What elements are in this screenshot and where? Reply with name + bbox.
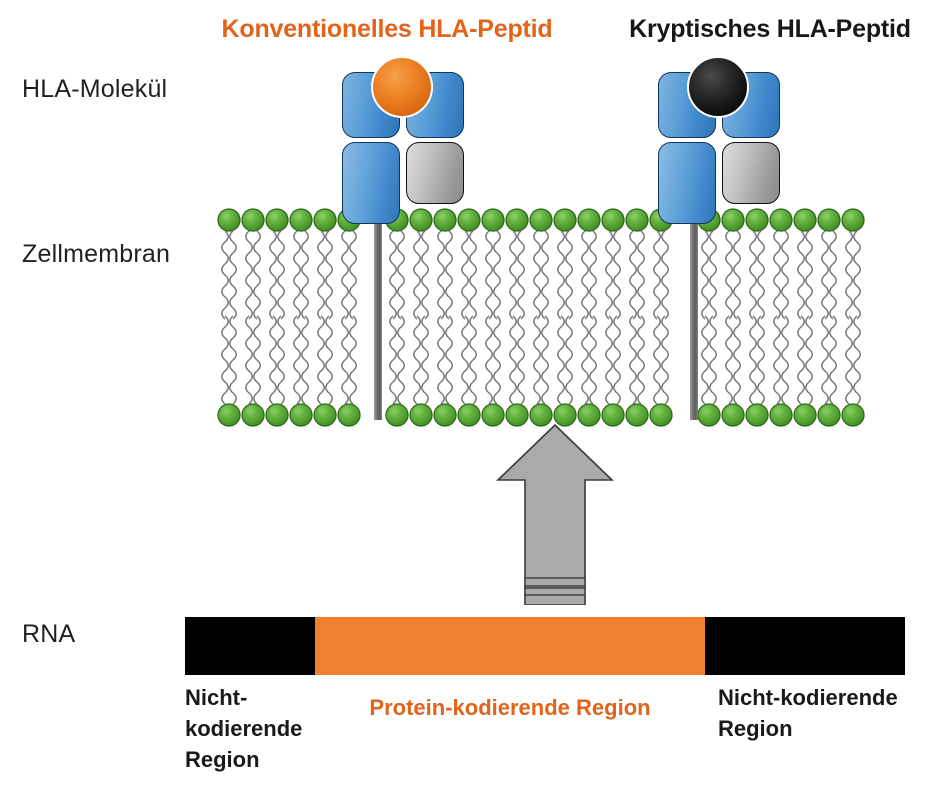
caption-line: Nicht- — [185, 682, 335, 713]
lipid-tail — [494, 316, 500, 404]
lipid-tail — [470, 231, 476, 319]
lipid-tail — [558, 231, 564, 319]
lipid-tail — [638, 231, 644, 319]
lipid-tail — [422, 316, 428, 404]
lipid-tail — [350, 316, 356, 404]
lipid-tail — [630, 231, 636, 319]
lipid-tail — [438, 316, 444, 404]
lipid-tail — [590, 316, 596, 404]
lipid-tail — [414, 231, 420, 319]
lipid-tail — [846, 316, 852, 404]
lipid-tail — [390, 316, 396, 404]
lipid-tail — [534, 316, 540, 404]
lipid-head — [482, 209, 504, 231]
lipid-tail — [798, 231, 804, 319]
lipid-tail — [542, 316, 548, 404]
lipid-head — [842, 209, 864, 231]
lipid-head — [698, 404, 720, 426]
lipid-tail — [534, 231, 540, 319]
translation-arrow — [470, 415, 645, 605]
lipid-head — [314, 209, 336, 231]
lipid-head — [218, 209, 240, 231]
lipid-tail — [302, 231, 308, 319]
lipid-tail — [294, 316, 300, 404]
lipid-tail — [230, 231, 236, 319]
lipid-head — [530, 209, 552, 231]
lipid-tail — [326, 231, 332, 319]
lipid-tail — [566, 316, 572, 404]
lipid-tail — [446, 231, 452, 319]
lipid-head — [650, 404, 672, 426]
rna-caption-right-noncoding: Nicht-kodierende Region — [718, 682, 933, 744]
lipid-tail — [798, 316, 804, 404]
lipid-tail — [806, 231, 812, 319]
lipid-tail — [822, 231, 828, 319]
lipid-tail — [774, 231, 780, 319]
caption-line: Protein-kodierende Region — [315, 692, 705, 723]
lipid-tail — [830, 316, 836, 404]
lipid-tail — [606, 231, 612, 319]
lipid-tail — [606, 316, 612, 404]
lipid-tail — [558, 316, 564, 404]
lipid-head — [410, 404, 432, 426]
lipid-head — [746, 404, 768, 426]
lipid-tail — [726, 316, 732, 404]
lipid-tail — [614, 231, 620, 319]
lipid-tail — [510, 316, 516, 404]
lipid-tail — [662, 231, 668, 319]
lipid-tail — [854, 231, 860, 319]
lipid-tail — [390, 231, 396, 319]
lipid-tail — [614, 316, 620, 404]
lipid-tail — [734, 316, 740, 404]
lipid-tail — [582, 231, 588, 319]
lipid-tail — [542, 231, 548, 319]
lipid-tail — [398, 231, 404, 319]
lipid-tail — [806, 316, 812, 404]
lipid-tail — [350, 231, 356, 319]
lipid-tail — [846, 231, 852, 319]
lipid-tail — [654, 316, 660, 404]
lipid-tail — [414, 316, 420, 404]
lipid-tail — [734, 231, 740, 319]
lipid-tail — [630, 316, 636, 404]
lipid-head — [242, 209, 264, 231]
lipid-head — [602, 209, 624, 231]
hla-anchor-stem-cryptic — [690, 200, 698, 420]
hla-molecule-cryptic[interactable] — [656, 56, 792, 226]
lipid-head — [290, 404, 312, 426]
lipid-tail — [654, 231, 660, 319]
lipid-tail — [222, 231, 228, 319]
lipid-head — [218, 404, 240, 426]
lipid-tail — [702, 316, 708, 404]
diagram-canvas: Konventionelles HLA-Peptid Kryptisches H… — [0, 0, 935, 786]
caption-line: Nicht-kodierende — [718, 682, 933, 713]
lipid-tail — [758, 316, 764, 404]
lipid-tail — [702, 231, 708, 319]
lipid-tail — [246, 231, 252, 319]
lipid-tail — [822, 316, 828, 404]
lipid-head — [266, 209, 288, 231]
lipid-tail — [294, 231, 300, 319]
lipid-tail — [638, 316, 644, 404]
lipid-tail — [462, 231, 468, 319]
lipid-tail — [246, 316, 252, 404]
lipid-head — [578, 209, 600, 231]
lipid-head — [290, 209, 312, 231]
lipid-tail — [222, 316, 228, 404]
lipid-tail — [462, 316, 468, 404]
hla-beta2-microglobulin — [406, 142, 464, 204]
lipid-tail — [590, 231, 596, 319]
lipid-tail — [302, 316, 308, 404]
lipid-tail — [566, 231, 572, 319]
hla-anchor-stem-conventional — [374, 200, 382, 420]
caption-line: kodierende — [185, 713, 335, 744]
caption-line: Region — [718, 713, 933, 744]
rna-caption-left-noncoding: Nicht- kodierende Region — [185, 682, 335, 775]
lipid-tail — [398, 316, 404, 404]
lipid-tail — [318, 316, 324, 404]
hla-alpha3-domain — [342, 142, 400, 224]
lipid-tail — [510, 231, 516, 319]
lipid-tail — [518, 316, 524, 404]
lipid-tail — [318, 231, 324, 319]
arrow-tail-stripe-1 — [525, 578, 585, 586]
lipid-tail — [438, 231, 444, 319]
lipid-tail — [750, 316, 756, 404]
lipid-tail — [750, 231, 756, 319]
lipid-tail — [494, 231, 500, 319]
lipid-tail — [446, 316, 452, 404]
lipid-head — [794, 404, 816, 426]
lipid-tail — [782, 231, 788, 319]
lipid-tail — [486, 316, 492, 404]
lipid-head — [842, 404, 864, 426]
lipid-tail — [278, 231, 284, 319]
lipid-head — [626, 209, 648, 231]
lipid-tail — [710, 231, 716, 319]
lipid-tail — [342, 231, 348, 319]
lipid-head — [722, 404, 744, 426]
lipid-tail — [422, 231, 428, 319]
lipid-tail — [758, 231, 764, 319]
lipid-tail — [854, 316, 860, 404]
lipid-tail — [774, 316, 780, 404]
lipid-head — [266, 404, 288, 426]
lipid-tail — [726, 231, 732, 319]
hla-alpha3-domain — [658, 142, 716, 224]
arrow-tail-stripe-2 — [525, 588, 585, 595]
lipid-head — [794, 209, 816, 231]
rna-strand[interactable] — [185, 617, 905, 675]
lipid-head — [314, 404, 336, 426]
hla-molecule-conventional[interactable] — [340, 56, 476, 226]
rna-segment-right-noncoding — [705, 617, 905, 675]
lipid-tail — [582, 316, 588, 404]
lipid-head — [506, 209, 528, 231]
lipid-tail — [830, 231, 836, 319]
lipid-head — [818, 209, 840, 231]
lipid-tail — [230, 316, 236, 404]
lipid-tail — [662, 316, 668, 404]
lipid-tail — [470, 316, 476, 404]
lipid-tail — [270, 231, 276, 319]
lipid-tail — [254, 316, 260, 404]
lipid-head — [386, 404, 408, 426]
lipid-head — [770, 404, 792, 426]
lipid-tail — [326, 316, 332, 404]
lipid-head — [242, 404, 264, 426]
hla-beta2-microglobulin — [722, 142, 780, 204]
lipid-tail — [710, 316, 716, 404]
lipid-head — [338, 404, 360, 426]
lipid-head — [818, 404, 840, 426]
lipid-head — [434, 404, 456, 426]
lipid-tail — [270, 316, 276, 404]
rna-segment-coding — [315, 617, 705, 675]
lipid-tail — [278, 316, 284, 404]
lipid-tail — [486, 231, 492, 319]
rna-caption-coding: Protein-kodierende Region — [315, 692, 705, 723]
lipid-tail — [342, 316, 348, 404]
lipid-tail — [518, 231, 524, 319]
lipid-head — [554, 209, 576, 231]
peptide-sphere-conventional[interactable] — [371, 56, 433, 118]
rna-segment-left-noncoding — [185, 617, 315, 675]
peptide-sphere-cryptic[interactable] — [687, 56, 749, 118]
caption-line: Region — [185, 744, 335, 775]
lipid-tail — [782, 316, 788, 404]
lipid-tail — [254, 231, 260, 319]
